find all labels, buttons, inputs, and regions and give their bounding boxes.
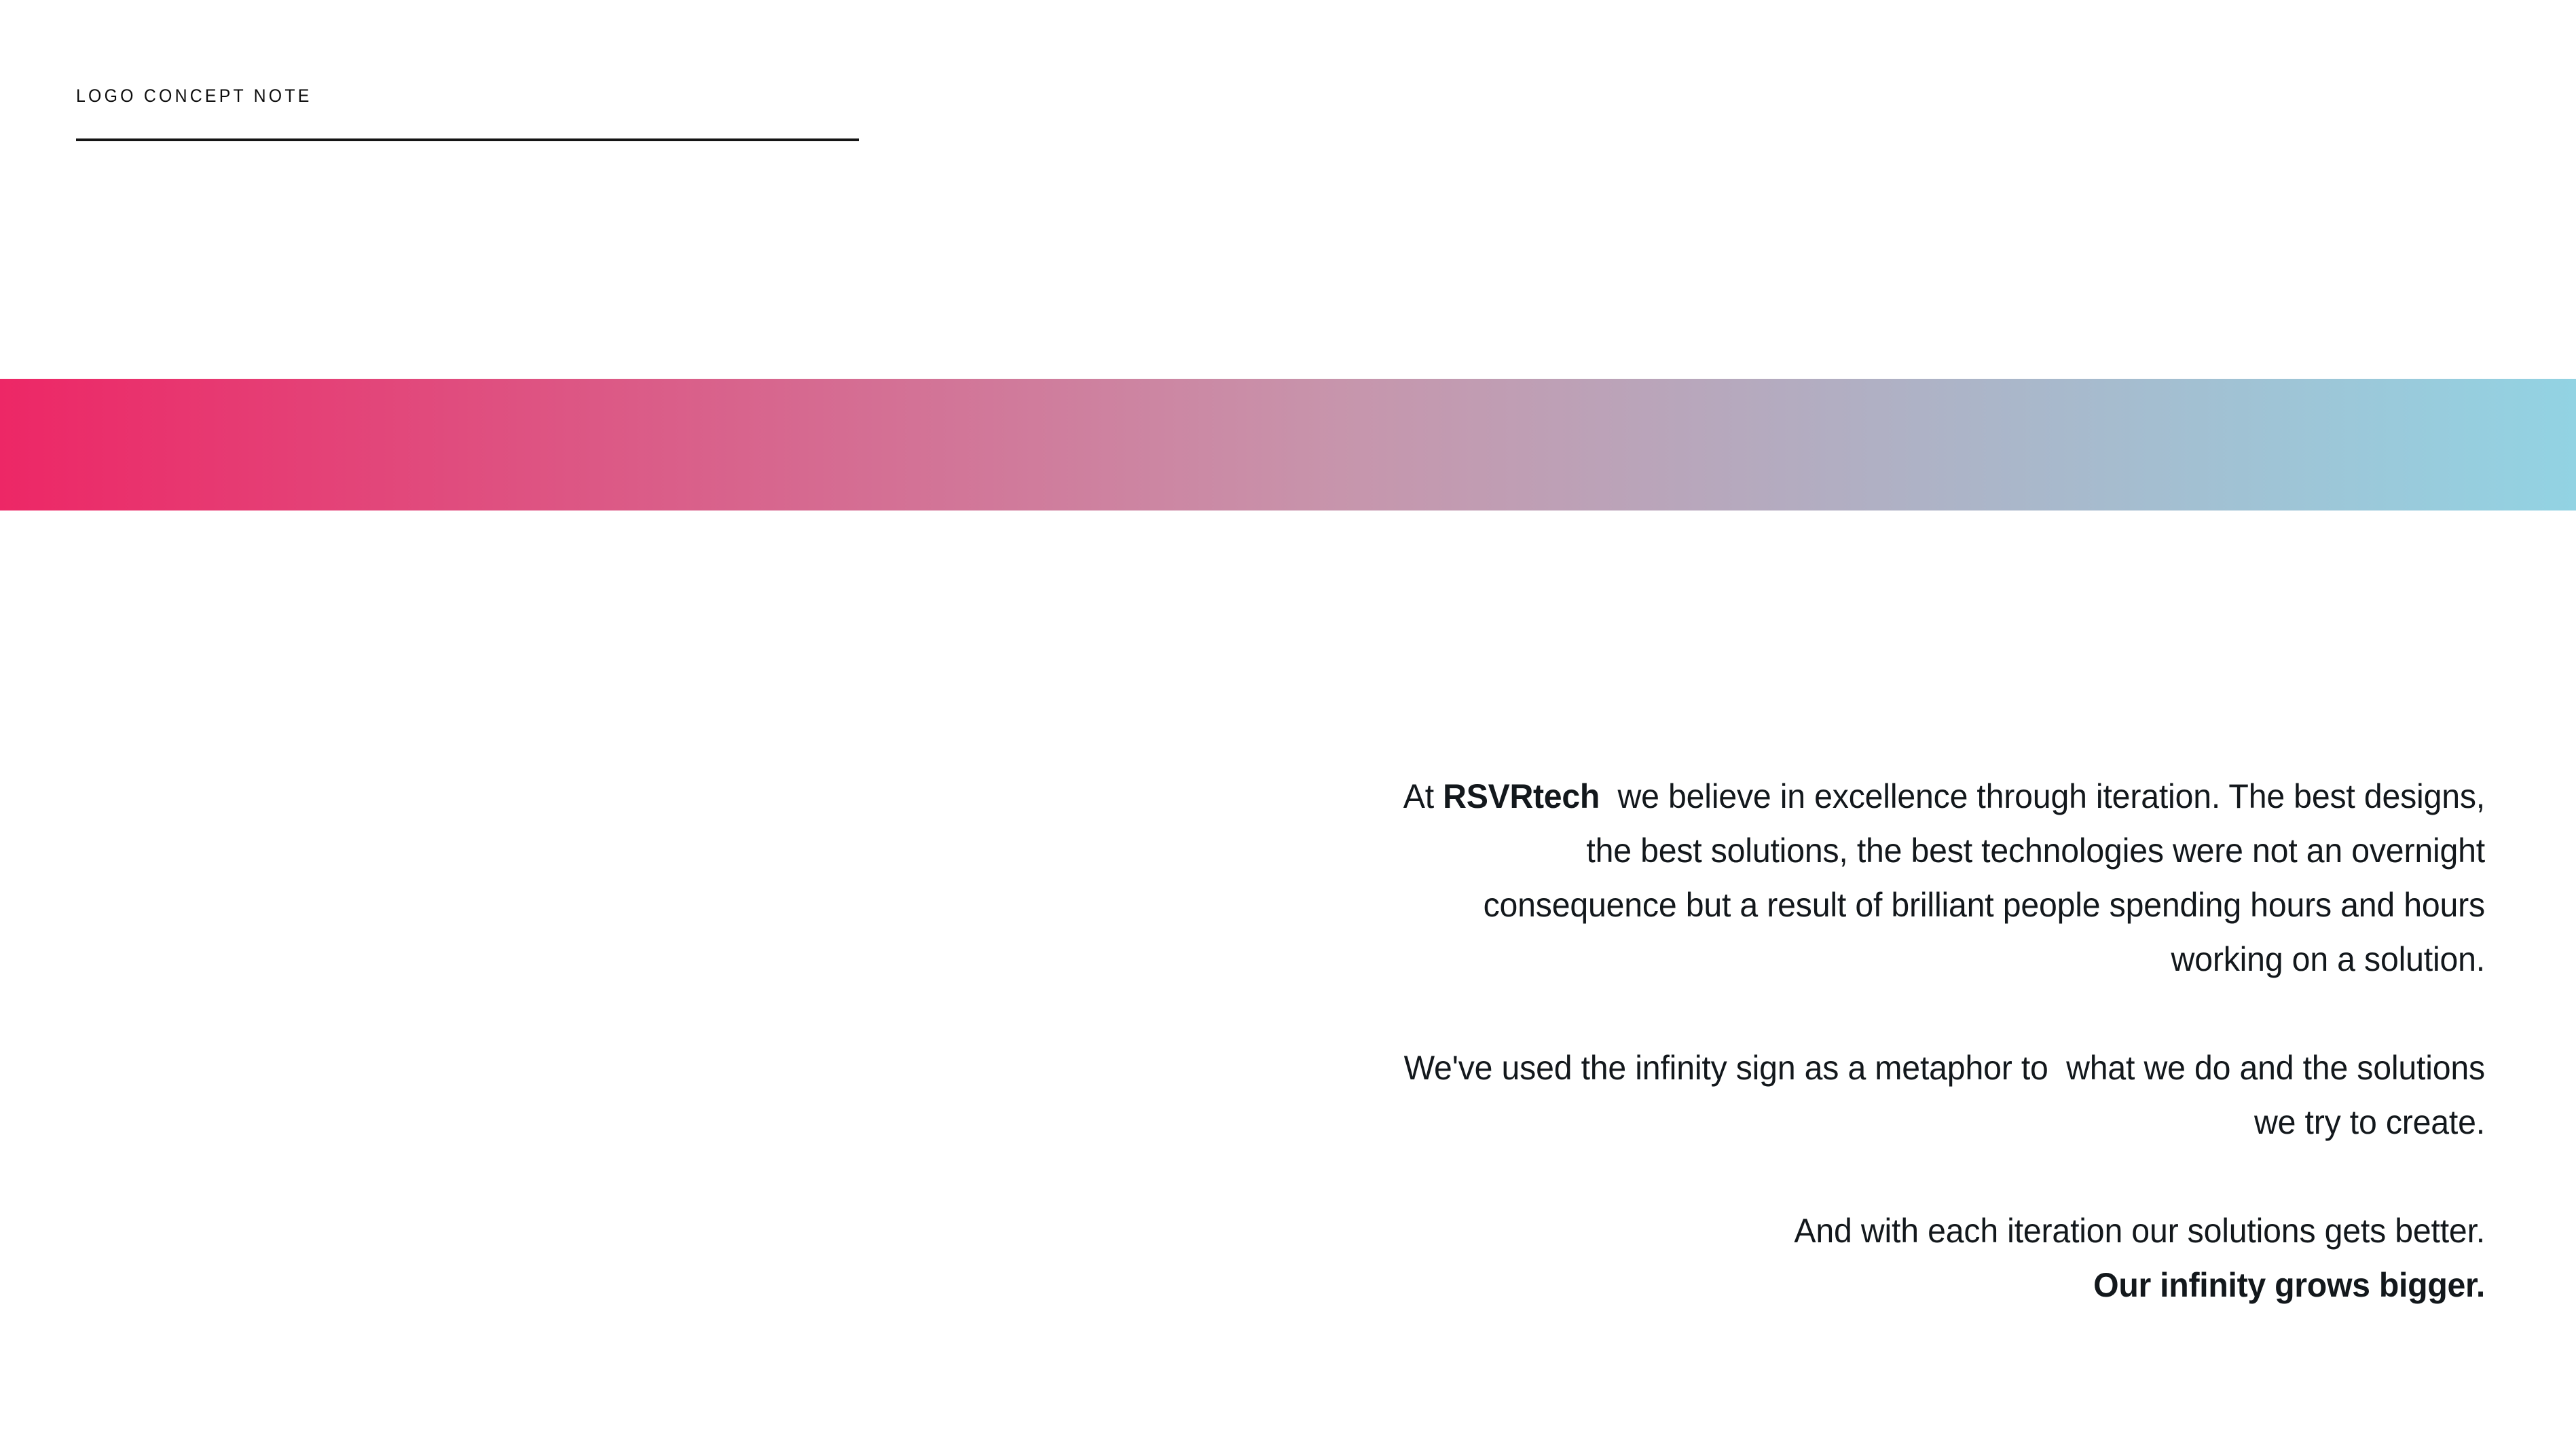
- closing-line-regular: And with each iteration our solutions ge…: [1794, 1212, 2485, 1250]
- brand-name: RSVRtech: [1443, 777, 1600, 815]
- header-divider: [76, 138, 859, 141]
- gradient-band: [0, 379, 2576, 510]
- paragraph-intro: At RSVRtech we believe in excellence thr…: [1397, 769, 2485, 986]
- paragraph-closing: And with each iteration our solutions ge…: [1397, 1204, 2485, 1312]
- header-block: LOGO CONCEPT NOTE: [76, 87, 864, 141]
- paragraph-metaphor: We've used the infinity sign as a metaph…: [1397, 1041, 2485, 1149]
- paragraph-intro-lead: At: [1403, 777, 1443, 815]
- paragraph-intro-rest: we believe in excellence through iterati…: [1484, 777, 2495, 978]
- concept-note-copy: At RSVRtech we believe in excellence thr…: [1358, 769, 2485, 1312]
- slide-canvas: LOGO CONCEPT NOTE At RSVRtech we believe…: [0, 0, 2576, 1448]
- page-title: LOGO CONCEPT NOTE: [76, 87, 801, 105]
- closing-line-emphasis: Our infinity grows bigger.: [1397, 1258, 2485, 1312]
